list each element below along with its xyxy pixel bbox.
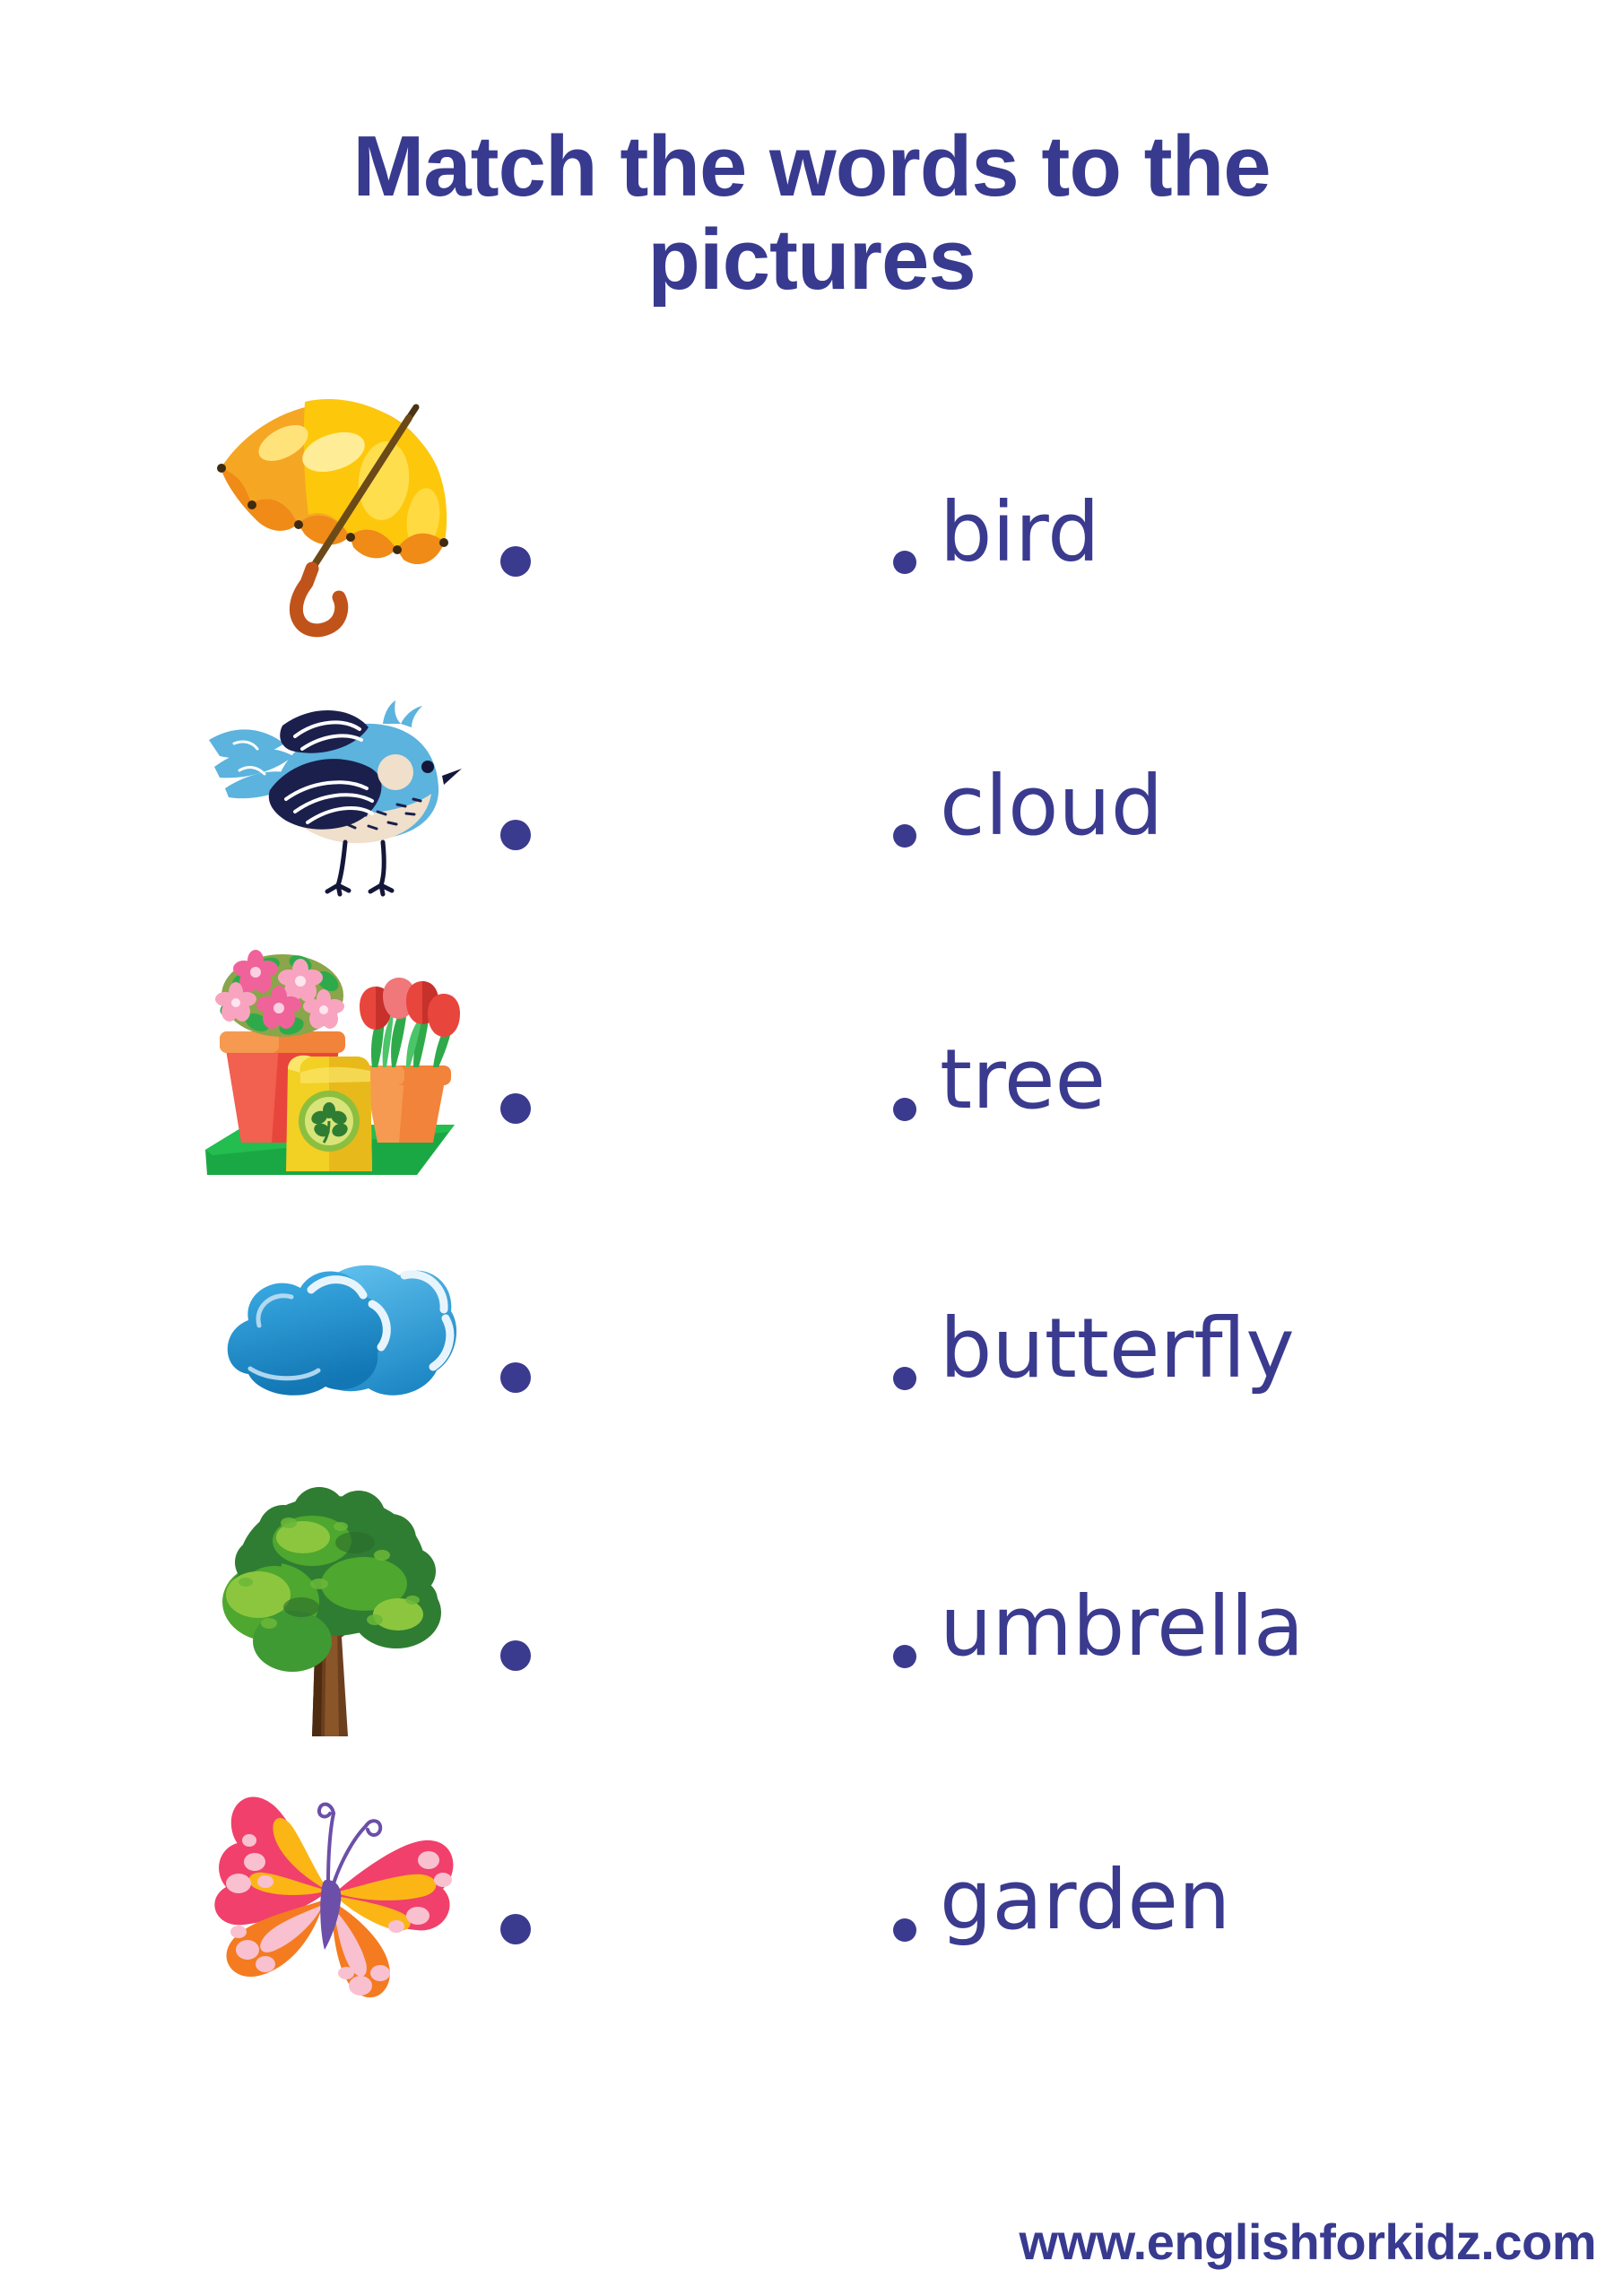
word-label[interactable]: cloud bbox=[940, 765, 1163, 848]
matching-exercise: bird bbox=[0, 386, 1623, 2027]
tree-illustration bbox=[206, 1487, 457, 1747]
match-row: butterfly bbox=[0, 1202, 1623, 1475]
match-row: garden bbox=[0, 1753, 1623, 2027]
picture-garden[interactable] bbox=[184, 933, 480, 1206]
right-match-dot[interactable] bbox=[893, 551, 916, 574]
word-label[interactable]: bird bbox=[940, 491, 1100, 574]
picture-tree[interactable] bbox=[184, 1480, 480, 1753]
umbrella-illustration bbox=[197, 393, 466, 653]
page-title: Match the words to the pictures bbox=[0, 120, 1623, 306]
garden-illustration bbox=[193, 940, 471, 1200]
left-match-dot[interactable] bbox=[500, 1093, 531, 1124]
right-match-dot[interactable] bbox=[893, 1645, 916, 1668]
picture-butterfly[interactable] bbox=[184, 1753, 480, 2027]
picture-bird[interactable] bbox=[184, 659, 480, 933]
website-url[interactable]: www.englishforkidz.com bbox=[1020, 2213, 1596, 2271]
word-label[interactable]: garden bbox=[940, 1859, 1230, 1942]
right-match-dot[interactable] bbox=[893, 1918, 916, 1942]
butterfly-illustration bbox=[197, 1774, 466, 2007]
left-match-dot[interactable] bbox=[500, 1914, 531, 1944]
match-row: cloud bbox=[0, 659, 1623, 933]
right-match-dot[interactable] bbox=[893, 1098, 916, 1121]
left-match-dot[interactable] bbox=[500, 546, 531, 577]
word-label[interactable]: umbrella bbox=[940, 1586, 1304, 1668]
picture-umbrella[interactable] bbox=[184, 386, 480, 659]
word-label[interactable]: tree bbox=[940, 1039, 1106, 1121]
picture-cloud[interactable] bbox=[184, 1202, 480, 1475]
match-row: umbrella bbox=[0, 1480, 1623, 1753]
cloud-illustration bbox=[202, 1254, 462, 1424]
left-match-dot[interactable] bbox=[500, 820, 531, 850]
right-match-dot[interactable] bbox=[893, 1367, 916, 1390]
left-match-dot[interactable] bbox=[500, 1362, 531, 1393]
bird-illustration bbox=[193, 684, 471, 909]
match-row: bird bbox=[0, 386, 1623, 659]
right-match-dot[interactable] bbox=[893, 824, 916, 848]
word-label[interactable]: butterfly bbox=[940, 1308, 1295, 1390]
left-match-dot[interactable] bbox=[500, 1640, 531, 1671]
match-row: tree bbox=[0, 933, 1623, 1206]
